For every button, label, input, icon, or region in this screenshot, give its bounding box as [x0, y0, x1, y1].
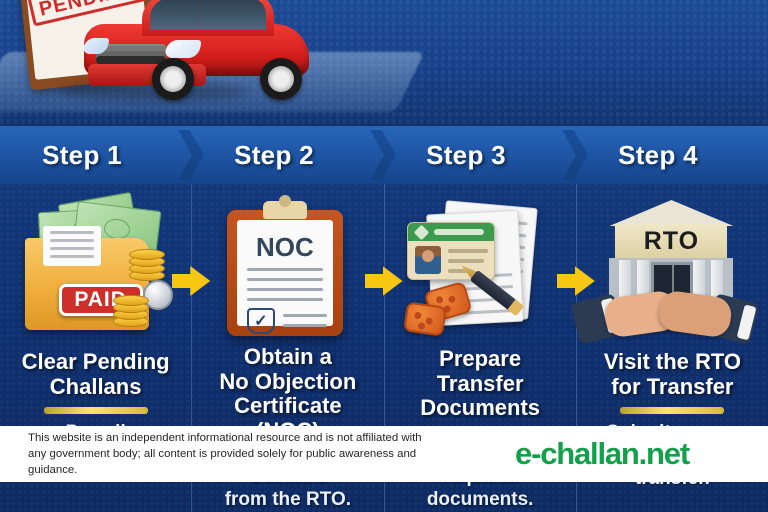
rto-building-icon: RTO [609, 200, 733, 306]
documents-id-pen-stamp-icon [401, 194, 559, 341]
title-underline [44, 407, 148, 414]
folder-sheet [43, 226, 101, 266]
noc-text-label: NOC [237, 232, 333, 263]
coin-stack-icon [129, 252, 165, 282]
hero-image: PENDING [0, 0, 768, 126]
step-label: Step 2 [234, 140, 314, 171]
rto-text-label: RTO [609, 227, 733, 256]
noc-clipboard-icon: NOC ✓ [209, 194, 367, 339]
rto-building-handshake-icon: RTO [593, 194, 751, 344]
clipboard-clip [263, 201, 307, 219]
coin-stack-icon [113, 298, 149, 328]
id-card-header [408, 223, 494, 241]
step-banner: Step 1 Step 2 Step 3 Step 4 [0, 126, 768, 184]
clipboard-icon: NOC ✓ [227, 210, 343, 336]
step-banner-item-2: Step 2 [192, 126, 384, 184]
clipboard-page: NOC ✓ [237, 220, 333, 326]
check-seal-icon: ✓ [247, 308, 275, 334]
rubber-stamp-icon [403, 301, 447, 336]
title-underline [620, 407, 724, 414]
step-label: Step 3 [426, 140, 506, 171]
step-label: Step 1 [42, 140, 122, 171]
car-rear-wheel [260, 58, 302, 100]
disclaimer-bar: This website is an independent informati… [0, 426, 768, 482]
step-title: PrepareTransferDocuments [394, 347, 566, 421]
step-title: Visit the RTOfor Transfer [586, 350, 758, 399]
car-front-wheel [152, 58, 194, 100]
step-title: Clear PendingChallans [10, 350, 182, 399]
step-banner-item-4: Step 4 [576, 126, 768, 184]
site-logo[interactable]: e-challan.net [444, 436, 760, 472]
paid-folder-cash-coins-icon: PAID [17, 194, 175, 344]
step-label: Step 4 [618, 140, 698, 171]
id-card-photo [415, 246, 441, 274]
arrow-right-icon [365, 266, 403, 296]
arrow-right-icon [172, 266, 210, 296]
id-card-icon [407, 222, 495, 280]
disclaimer-text: This website is an independent informati… [0, 430, 452, 479]
step-banner-item-1: Step 1 [0, 126, 192, 184]
step-banner-item-3: Step 3 [384, 126, 576, 184]
building-roof [609, 200, 733, 226]
infographic-page: PENDING Step 1 Step 2 Step 3 Step 4 [0, 0, 768, 512]
car-windshield [150, 0, 266, 30]
red-car-icon [84, 0, 314, 96]
arrow-right-icon [557, 266, 595, 296]
